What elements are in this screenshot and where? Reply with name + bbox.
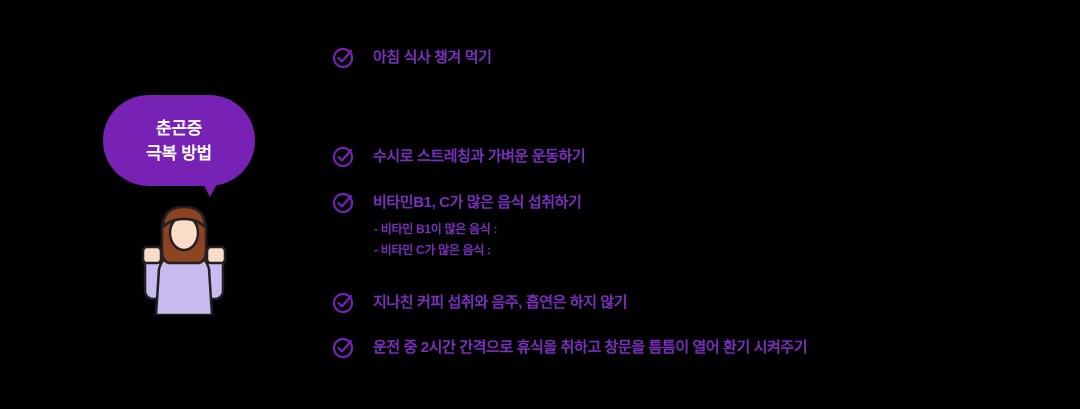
list-item[interactable]: 지나친 커피 섭취와 음주, 흡연은 하지 않기 [332, 293, 627, 314]
list-item[interactable]: 운전 중 2시간 간격으로 휴식을 취하고 창문을 틈틈이 열어 환기 시켜주기 [332, 338, 807, 359]
list-item-label: 운전 중 2시간 간격으로 휴식을 취하고 창문을 틈틈이 열어 환기 시켜주기 [373, 338, 807, 358]
woman-figure-icon [128, 203, 240, 315]
circle-check-icon [332, 190, 356, 214]
infographic-canvas: 춘곤증 극복 방법 [0, 0, 1080, 409]
list-item-label: 아침 식사 챙겨 먹기 [373, 48, 492, 68]
list-item-label: 지나친 커피 섭취와 음주, 흡연은 하지 않기 [373, 293, 627, 313]
character-illustration [128, 203, 240, 315]
checklist: 아침 식사 챙겨 먹기 수시로 스트레칭과 가벼운 운동하기 비타민B1, C가… [332, 0, 1072, 409]
sub-list: - 비타민 B1이 많은 음식 : - 비타민 C가 많은 음식 : [374, 219, 497, 261]
circle-check-icon [332, 45, 356, 69]
list-item[interactable]: 비타민B1, C가 많은 음식 섭취하기 [332, 193, 581, 214]
list-item-label: 수시로 스트레칭과 가벼운 운동하기 [373, 147, 585, 167]
sub-list-item: - 비타민 B1이 많은 음식 : [374, 219, 497, 240]
circle-check-icon [332, 290, 356, 314]
speech-bubble-tail [203, 184, 217, 197]
speech-bubble-line-2: 극복 방법 [146, 141, 212, 166]
circle-check-icon [332, 144, 356, 168]
speech-bubble: 춘곤증 극복 방법 [103, 95, 255, 186]
sub-list-item: - 비타민 C가 많은 음식 : [374, 240, 497, 261]
list-item[interactable]: 아침 식사 챙겨 먹기 [332, 48, 492, 69]
list-item-label: 비타민B1, C가 많은 음식 섭취하기 [373, 193, 581, 213]
list-item[interactable]: 수시로 스트레칭과 가벼운 운동하기 [332, 147, 585, 168]
circle-check-icon [332, 335, 356, 359]
speech-bubble-line-1: 춘곤증 [156, 116, 202, 141]
